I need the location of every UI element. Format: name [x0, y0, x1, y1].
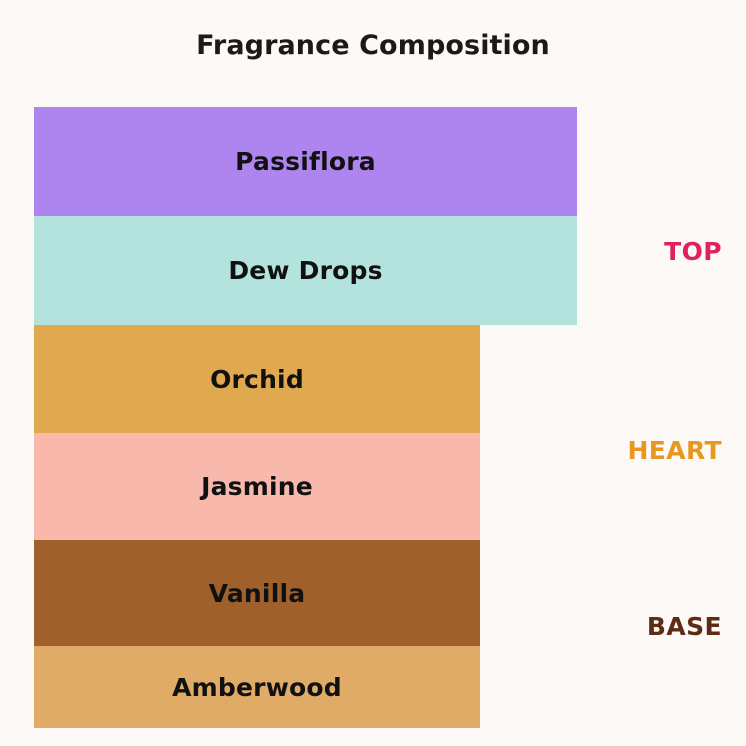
- bar-label-amberwood: Amberwood: [172, 673, 342, 702]
- bar-label-orchid: Orchid: [210, 365, 304, 394]
- group-label-heart: HEART: [0, 436, 722, 465]
- bar-amberwood[interactable]: Amberwood: [34, 646, 480, 728]
- bar-label-passiflora: Passiflora: [235, 147, 376, 176]
- page-title: Fragrance Composition: [0, 30, 746, 61]
- bar-label-jasmine: Jasmine: [201, 472, 313, 501]
- bar-label-vanilla: Vanilla: [209, 579, 306, 608]
- group-label-top: TOP: [0, 237, 722, 266]
- group-label-base: BASE: [0, 612, 722, 641]
- bar-passiflora[interactable]: Passiflora: [34, 107, 577, 216]
- fragrance-composition-chart: Fragrance Composition Passiflora Dew Dro…: [0, 0, 746, 746]
- bar-dew-drops[interactable]: Dew Drops: [34, 216, 577, 325]
- bar-orchid[interactable]: Orchid: [34, 325, 480, 433]
